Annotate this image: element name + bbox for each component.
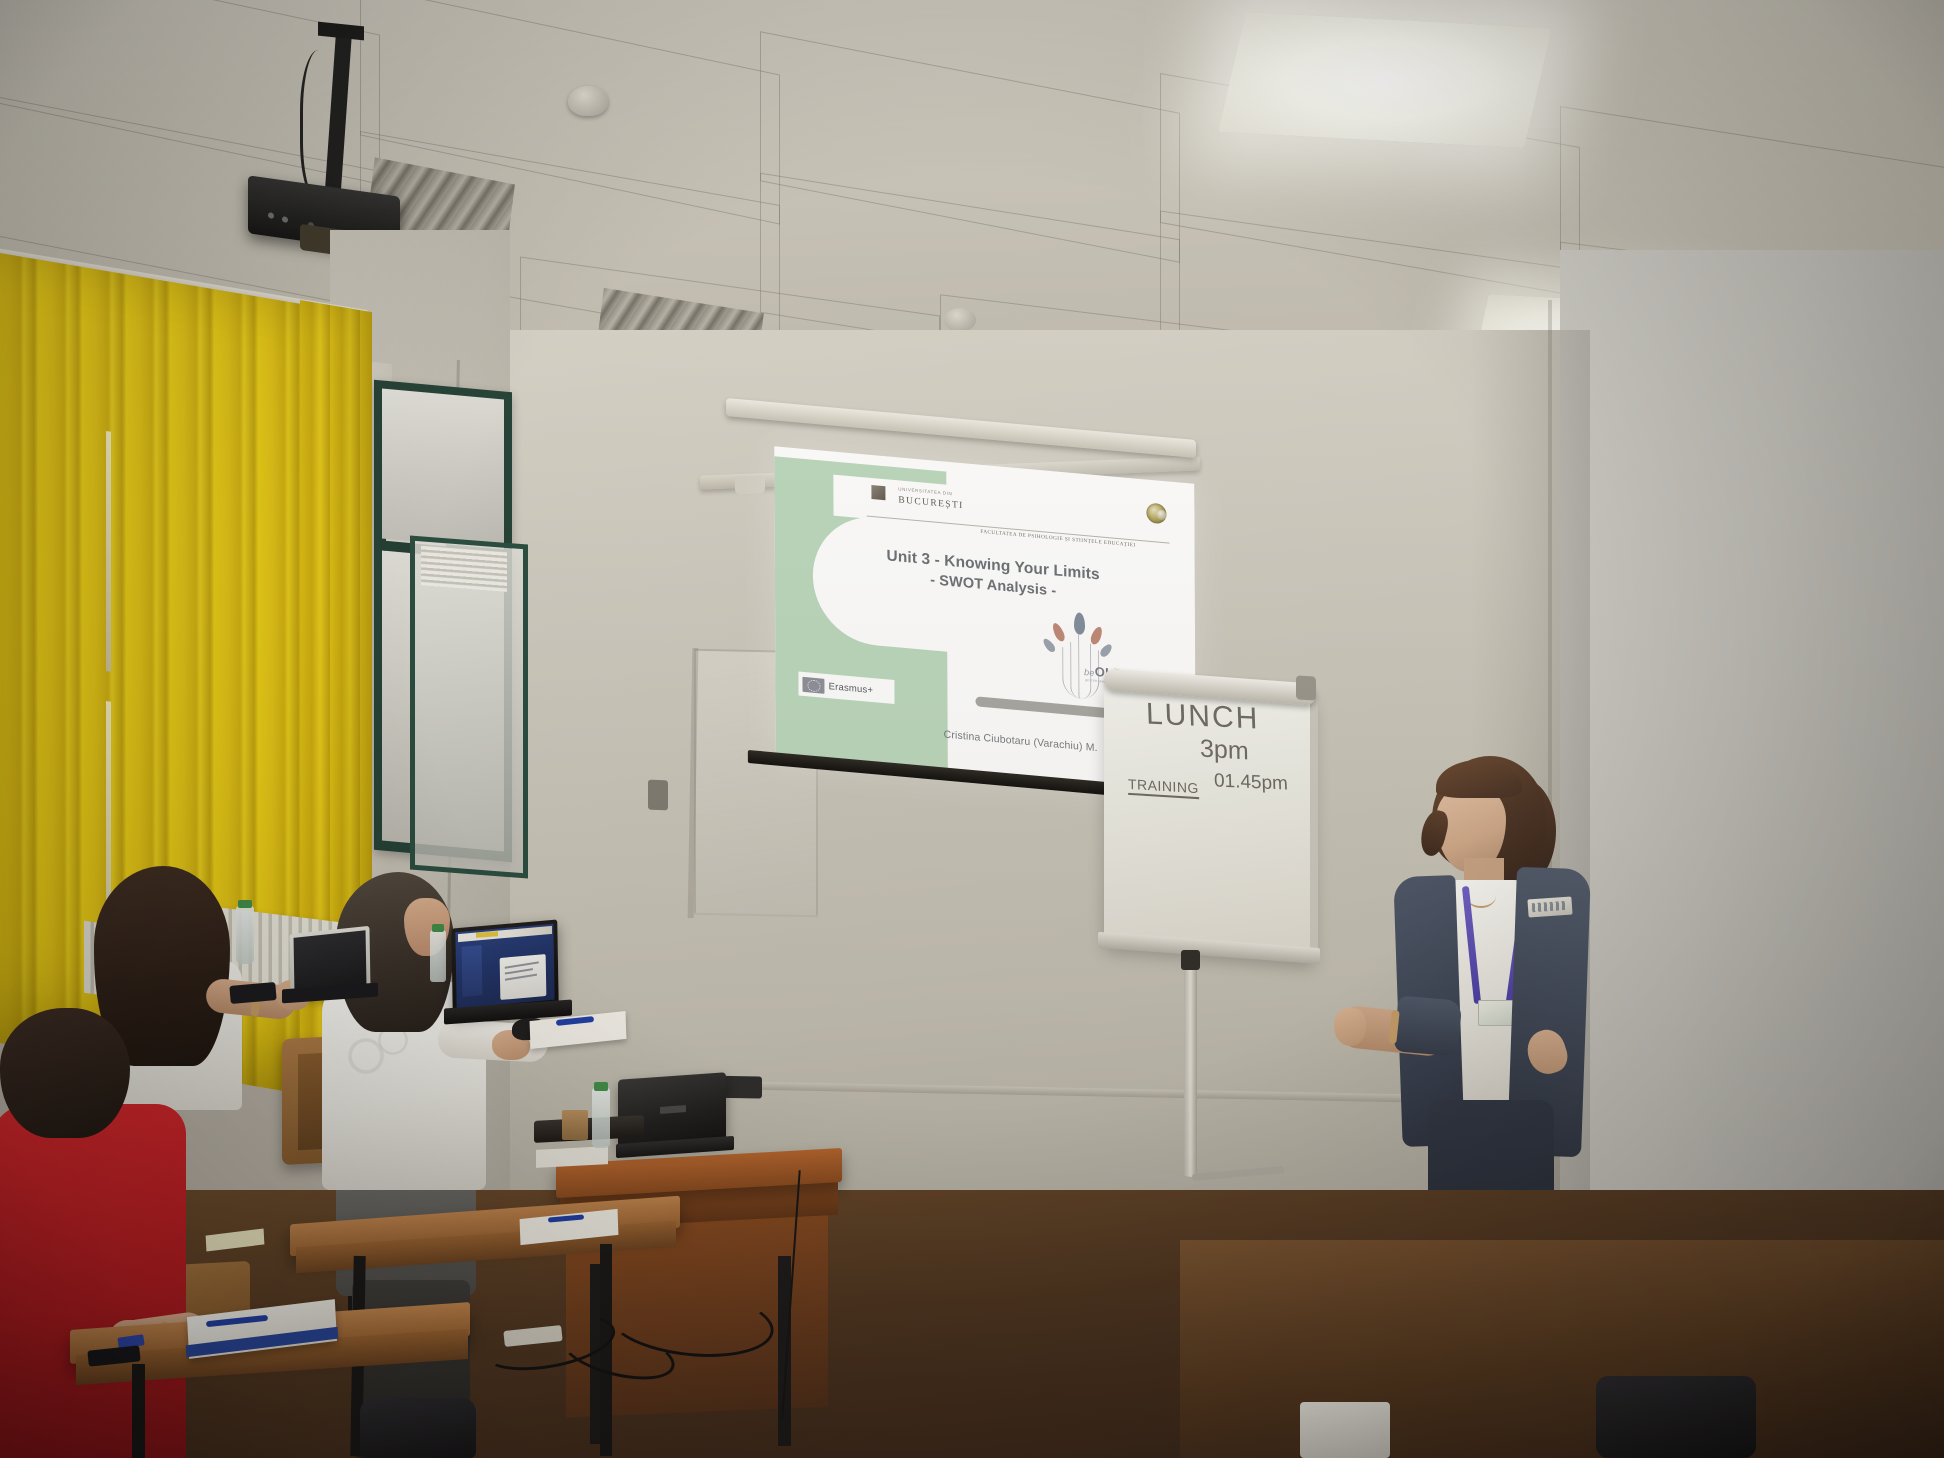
presenter-pocket-badge <box>1527 896 1572 917</box>
papers-on-desk <box>536 1146 608 1168</box>
water-bottle <box>592 1088 610 1148</box>
presenter-hand-left <box>1334 1008 1366 1046</box>
bottle-cap <box>238 900 252 908</box>
laptop-screen-dialog <box>500 954 547 1000</box>
eu-flag-icon <box>803 676 825 693</box>
flipchart-line-training-time: 01.45pm <box>1214 770 1289 795</box>
cardboard-cup <box>562 1110 588 1140</box>
wall-socket[interactable] <box>648 780 668 811</box>
flipchart-stand-pole <box>1184 952 1197 1180</box>
leaf-icon <box>1074 612 1085 635</box>
university-crest-icon <box>871 485 885 500</box>
flipchart-line-lunch-time: 3pm <box>1200 734 1249 766</box>
classroom-photo-scene: UNIVERSITATEA DIN BUCUREȘTI FACULTATEA D… <box>0 0 1944 1458</box>
window-glass-upper <box>382 388 504 549</box>
leaf-icon <box>1041 637 1057 654</box>
faculty-seal-inner-icon <box>1157 509 1167 520</box>
flipchart-height-knob[interactable] <box>1181 950 1200 970</box>
erasmus-label: Erasmus+ <box>829 681 874 696</box>
water-bottle <box>236 906 254 964</box>
backpack <box>360 1398 476 1458</box>
student-red-top <box>0 1104 186 1458</box>
right-wall <box>1560 250 1944 1250</box>
laptop-screen-sidebar <box>462 945 483 997</box>
flipchart-line-lunch: LUNCH <box>1145 697 1259 736</box>
floor-right-area <box>1180 1240 1944 1458</box>
leaf-icon <box>1098 642 1114 658</box>
beold-prefix: be <box>1084 667 1095 678</box>
presenter-sleeve-left <box>1394 995 1463 1056</box>
ceiling-light-fixture <box>1218 12 1552 148</box>
leaf-icon <box>1050 622 1066 643</box>
student-hair <box>0 1008 130 1138</box>
flipchart-roll-cap <box>1296 675 1316 700</box>
slide-presenter-name: Cristina Ciubotaru (Varachiu) M. <box>944 728 1098 754</box>
leaf-icon <box>1089 625 1104 646</box>
smoke-detector-icon <box>944 308 976 332</box>
flipchart-paper-edge <box>1310 690 1318 955</box>
open-casement-pane[interactable] <box>410 535 528 878</box>
desk-leg <box>132 1364 145 1458</box>
box-on-floor <box>1300 1402 1390 1458</box>
smoke-detector-icon <box>568 86 608 116</box>
bottle-cap <box>594 1082 608 1091</box>
bag-on-floor <box>1596 1376 1756 1458</box>
second-laptop-screen <box>294 930 367 991</box>
desk-leg <box>778 1256 791 1446</box>
exterior-blind-icon <box>421 545 507 592</box>
water-bottle <box>430 930 446 982</box>
bottle-cap <box>432 924 444 932</box>
